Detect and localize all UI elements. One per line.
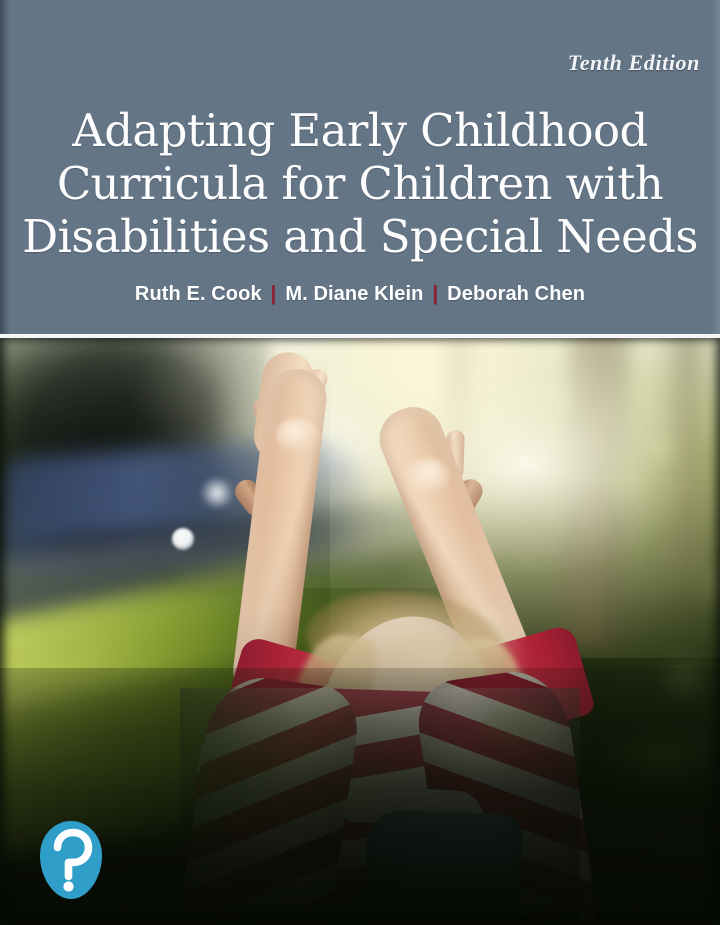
book-cover: Tenth Edition Adapting Early Childhood C… <box>0 0 720 925</box>
photo-right-hand-highlight <box>404 458 450 494</box>
edition-label: Tenth Edition <box>568 50 700 76</box>
cover-photograph <box>0 338 720 925</box>
title-line-3: Disabilities and Special Needs <box>18 210 702 263</box>
pearson-logo <box>38 820 104 900</box>
title-line-1: Adapting Early Childhood <box>18 104 702 157</box>
author-separator-1: | <box>262 283 286 305</box>
photo-bottom-vignette <box>0 668 720 925</box>
author-separator-2: | <box>423 283 447 305</box>
author-name-2: M. Diane Klein <box>285 283 423 305</box>
photo-left-hand-highlight <box>276 418 320 452</box>
cover-header-band: Tenth Edition Adapting Early Childhood C… <box>0 0 720 334</box>
page-title: Adapting Early Childhood Curricula for C… <box>18 104 702 263</box>
author-name-3: Deborah Chen <box>447 283 585 305</box>
author-list: Ruth E. Cook|M. Diane Klein|Deborah Chen <box>0 283 720 306</box>
title-line-2: Curricula for Children with <box>18 157 702 210</box>
author-name-1: Ruth E. Cook <box>135 283 262 305</box>
